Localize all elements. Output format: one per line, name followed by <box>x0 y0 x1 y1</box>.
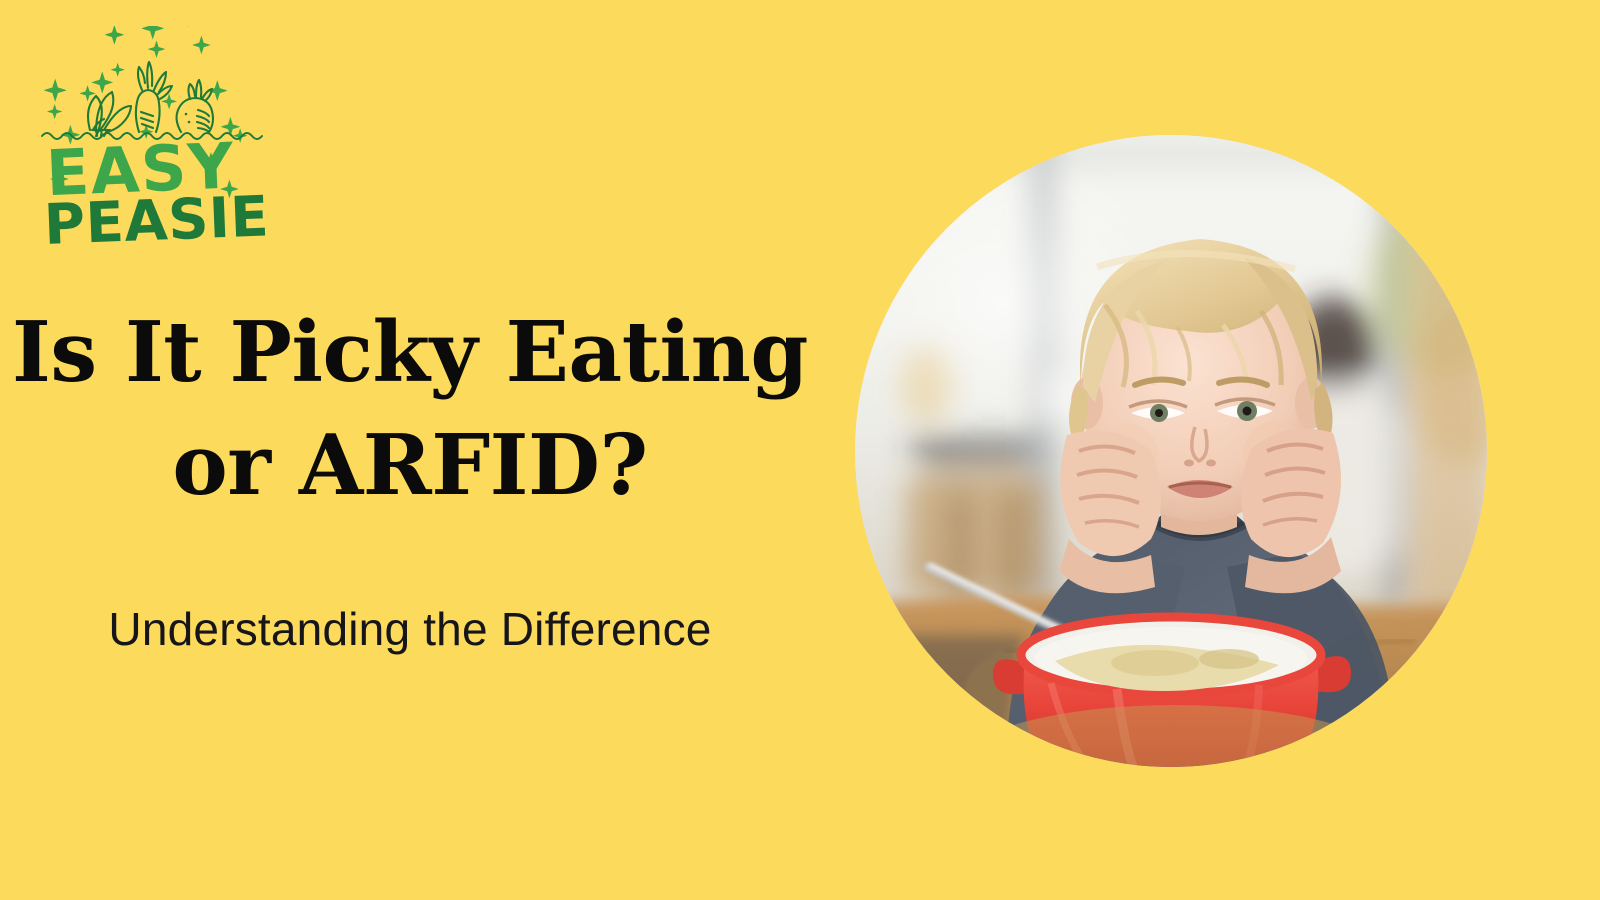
page-subtitle: Understanding the Difference <box>0 600 820 658</box>
poster-canvas: EASY PEASIE Is It Picky Eating or ARFID?… <box>0 0 1600 900</box>
page-title: Is It Picky Eating or ARFID? <box>0 296 820 522</box>
hero-photo <box>855 135 1487 767</box>
vegetable-illustration <box>88 62 213 136</box>
logo-word-peasie: PEASIE <box>43 184 268 256</box>
easy-peasie-logo[interactable]: EASY PEASIE <box>38 26 268 256</box>
logo-wordmark-peasie: PEASIE <box>43 184 268 256</box>
